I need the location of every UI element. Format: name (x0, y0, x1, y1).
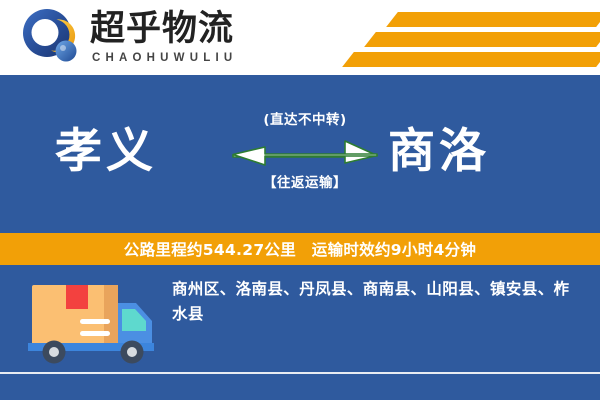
decorative-stripe-3 (342, 52, 600, 67)
brand-text: 超乎物流 CHAOHUWULIU (90, 9, 237, 65)
delivery-truck-icon (18, 273, 166, 369)
banner-header: 超乎物流 CHAOHUWULIU (0, 0, 600, 75)
decorative-stripe-1 (386, 12, 600, 27)
route-panel: 孝义 (直达不中转) 【往返运输】 商洛 (0, 75, 600, 233)
brand-name-en: CHAOHUWULIU (92, 51, 237, 65)
coverage-panel: 商州区、洛南县、丹凤县、商南县、山阳县、镇安县、柞水县 (0, 265, 600, 400)
double-arrow-icon (225, 133, 385, 171)
circle-q-logo-icon (20, 6, 82, 68)
transfer-info: (直达不中转) 【往返运输】 (225, 111, 385, 192)
logistics-route-banner: 超乎物流 CHAOHUWULIU 孝义 (直达不中转) 【往返运输】 商洛 (0, 0, 600, 400)
route-metrics-bar: 公路里程约544.27公里 运输时效约9小时4分钟 (0, 233, 600, 265)
destination-city: 商洛 (388, 123, 490, 181)
roundtrip-note: 【往返运输】 (225, 174, 385, 192)
origin-city: 孝义 (55, 123, 157, 181)
brand-logo: 超乎物流 CHAOHUWULIU (20, 6, 237, 68)
brand-name-cn: 超乎物流 (90, 9, 237, 49)
bottom-divider (0, 372, 600, 374)
direct-shipping-note: (直达不中转) (225, 111, 385, 129)
decorative-stripe-2 (364, 32, 600, 47)
route-metrics-text: 公路里程约544.27公里 运输时效约9小时4分钟 (124, 238, 476, 260)
coverage-areas-text: 商州区、洛南县、丹凤县、商南县、山阳县、镇安县、柞水县 (172, 277, 584, 327)
